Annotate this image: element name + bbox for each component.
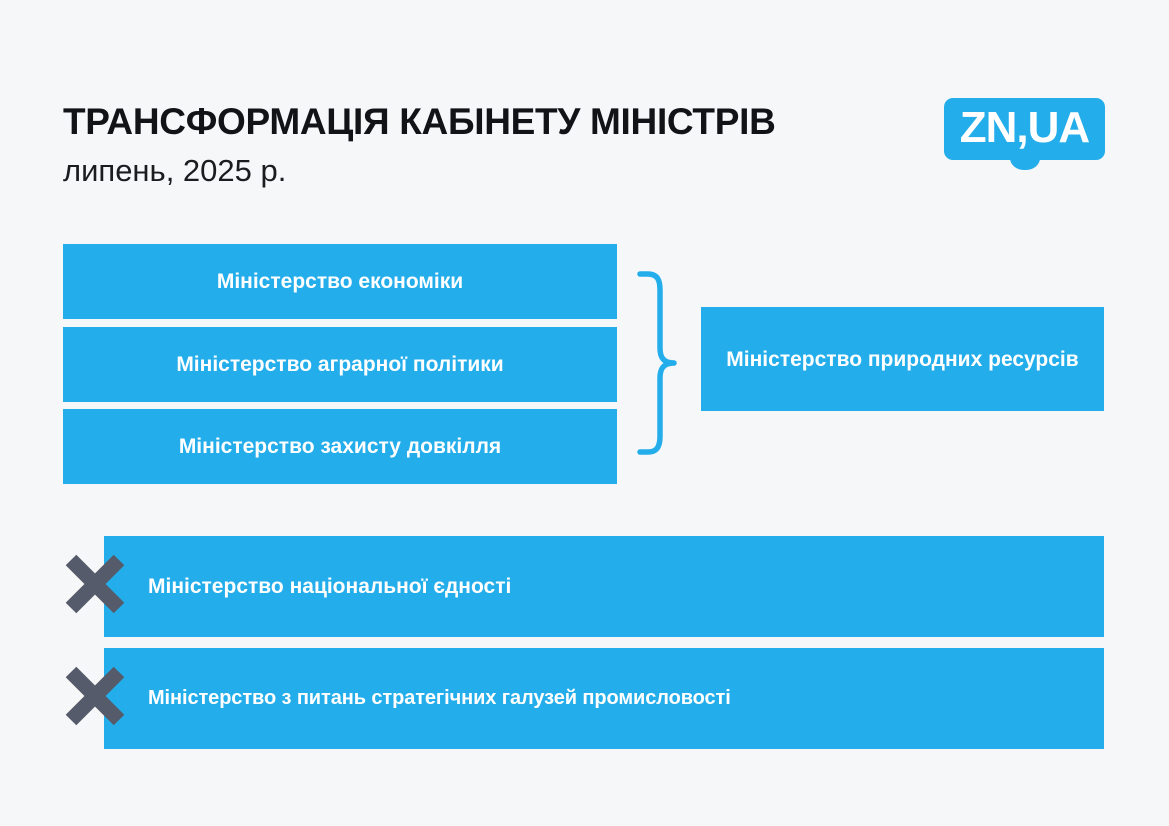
page-subtitle: липень, 2025 р. xyxy=(63,152,286,190)
merge-source-label-3: Міністерство захисту довкілля xyxy=(165,433,515,460)
removed-ministry-label-1: Міністерство національної єдності xyxy=(104,573,511,600)
merge-result-label: Міністерство природних ресурсів xyxy=(708,346,1096,373)
merge-source-label-1: Міністерство економіки xyxy=(203,268,477,295)
removed-ministry-bar-2[interactable]: Міністерство з питань стратегічних галуз… xyxy=(104,648,1104,749)
merge-source-bar-1[interactable]: Міністерство економіки xyxy=(63,244,617,319)
merge-source-label-2: Міністерство аграрної політики xyxy=(162,351,517,378)
infographic-canvas: ТРАНСФОРМАЦІЯ КАБІНЕТУ МІНІСТРІВ липень,… xyxy=(0,0,1169,826)
cross-icon xyxy=(61,554,125,618)
logo-wordmark: ZN,UA xyxy=(944,98,1105,160)
curly-brace-right-icon xyxy=(636,270,678,456)
merge-source-bar-3[interactable]: Міністерство захисту довкілля xyxy=(63,409,617,484)
merge-source-bar-2[interactable]: Міністерство аграрної політики xyxy=(63,327,617,402)
removed-ministry-label-2: Міністерство з питань стратегічних галуз… xyxy=(104,685,731,712)
removed-ministry-bar-1[interactable]: Міністерство національної єдності xyxy=(104,536,1104,637)
zn-ua-logo[interactable]: ZN,UA xyxy=(944,98,1105,160)
page-title: ТРАНСФОРМАЦІЯ КАБІНЕТУ МІНІСТРІВ xyxy=(63,100,776,144)
merge-result-box[interactable]: Міністерство природних ресурсів xyxy=(701,307,1104,411)
cross-icon xyxy=(61,666,125,730)
